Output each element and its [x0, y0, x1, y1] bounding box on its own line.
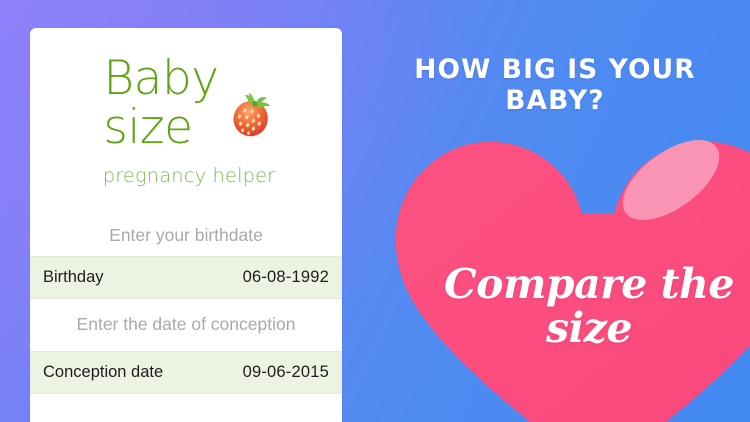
birthday-value[interactable]: 06-08-1992	[243, 268, 329, 287]
logo-word-size: size	[103, 103, 218, 152]
conception-hint: Enter the date of conception	[30, 299, 342, 351]
birthday-label: Birthday	[43, 268, 104, 287]
promo-script-line1: Compare the	[444, 260, 734, 308]
conception-value[interactable]: 09-06-2015	[243, 363, 329, 382]
date-form: Enter your birthdate Birthday 06-08-1992…	[30, 216, 342, 412]
birthday-row[interactable]: Birthday 06-08-1992	[30, 256, 342, 299]
promo-headline-line2: BABY?	[380, 85, 730, 116]
conception-label: Conception date	[43, 363, 163, 382]
app-screenshot-card: Baby size	[30, 28, 342, 422]
strawberry-icon	[225, 90, 277, 142]
promo-script-line2: size	[428, 306, 750, 350]
promo-script-text: Compare the size	[428, 262, 750, 350]
logo-word-baby: Baby	[103, 51, 218, 106]
logo-wordmark: Baby size	[103, 54, 218, 152]
conception-row[interactable]: Conception date 09-06-2015	[30, 351, 342, 394]
form-bottom-spacer	[30, 394, 342, 412]
app-tagline: pregnancy helper	[30, 164, 342, 187]
logo-row: Baby size	[30, 54, 342, 152]
app-logo: Baby size	[30, 28, 342, 187]
birthdate-hint: Enter your birthdate	[30, 216, 342, 256]
promo-headline: HOW BIG IS YOUR BABY?	[380, 54, 730, 116]
promo-headline-line1: HOW BIG IS YOUR	[414, 54, 696, 85]
